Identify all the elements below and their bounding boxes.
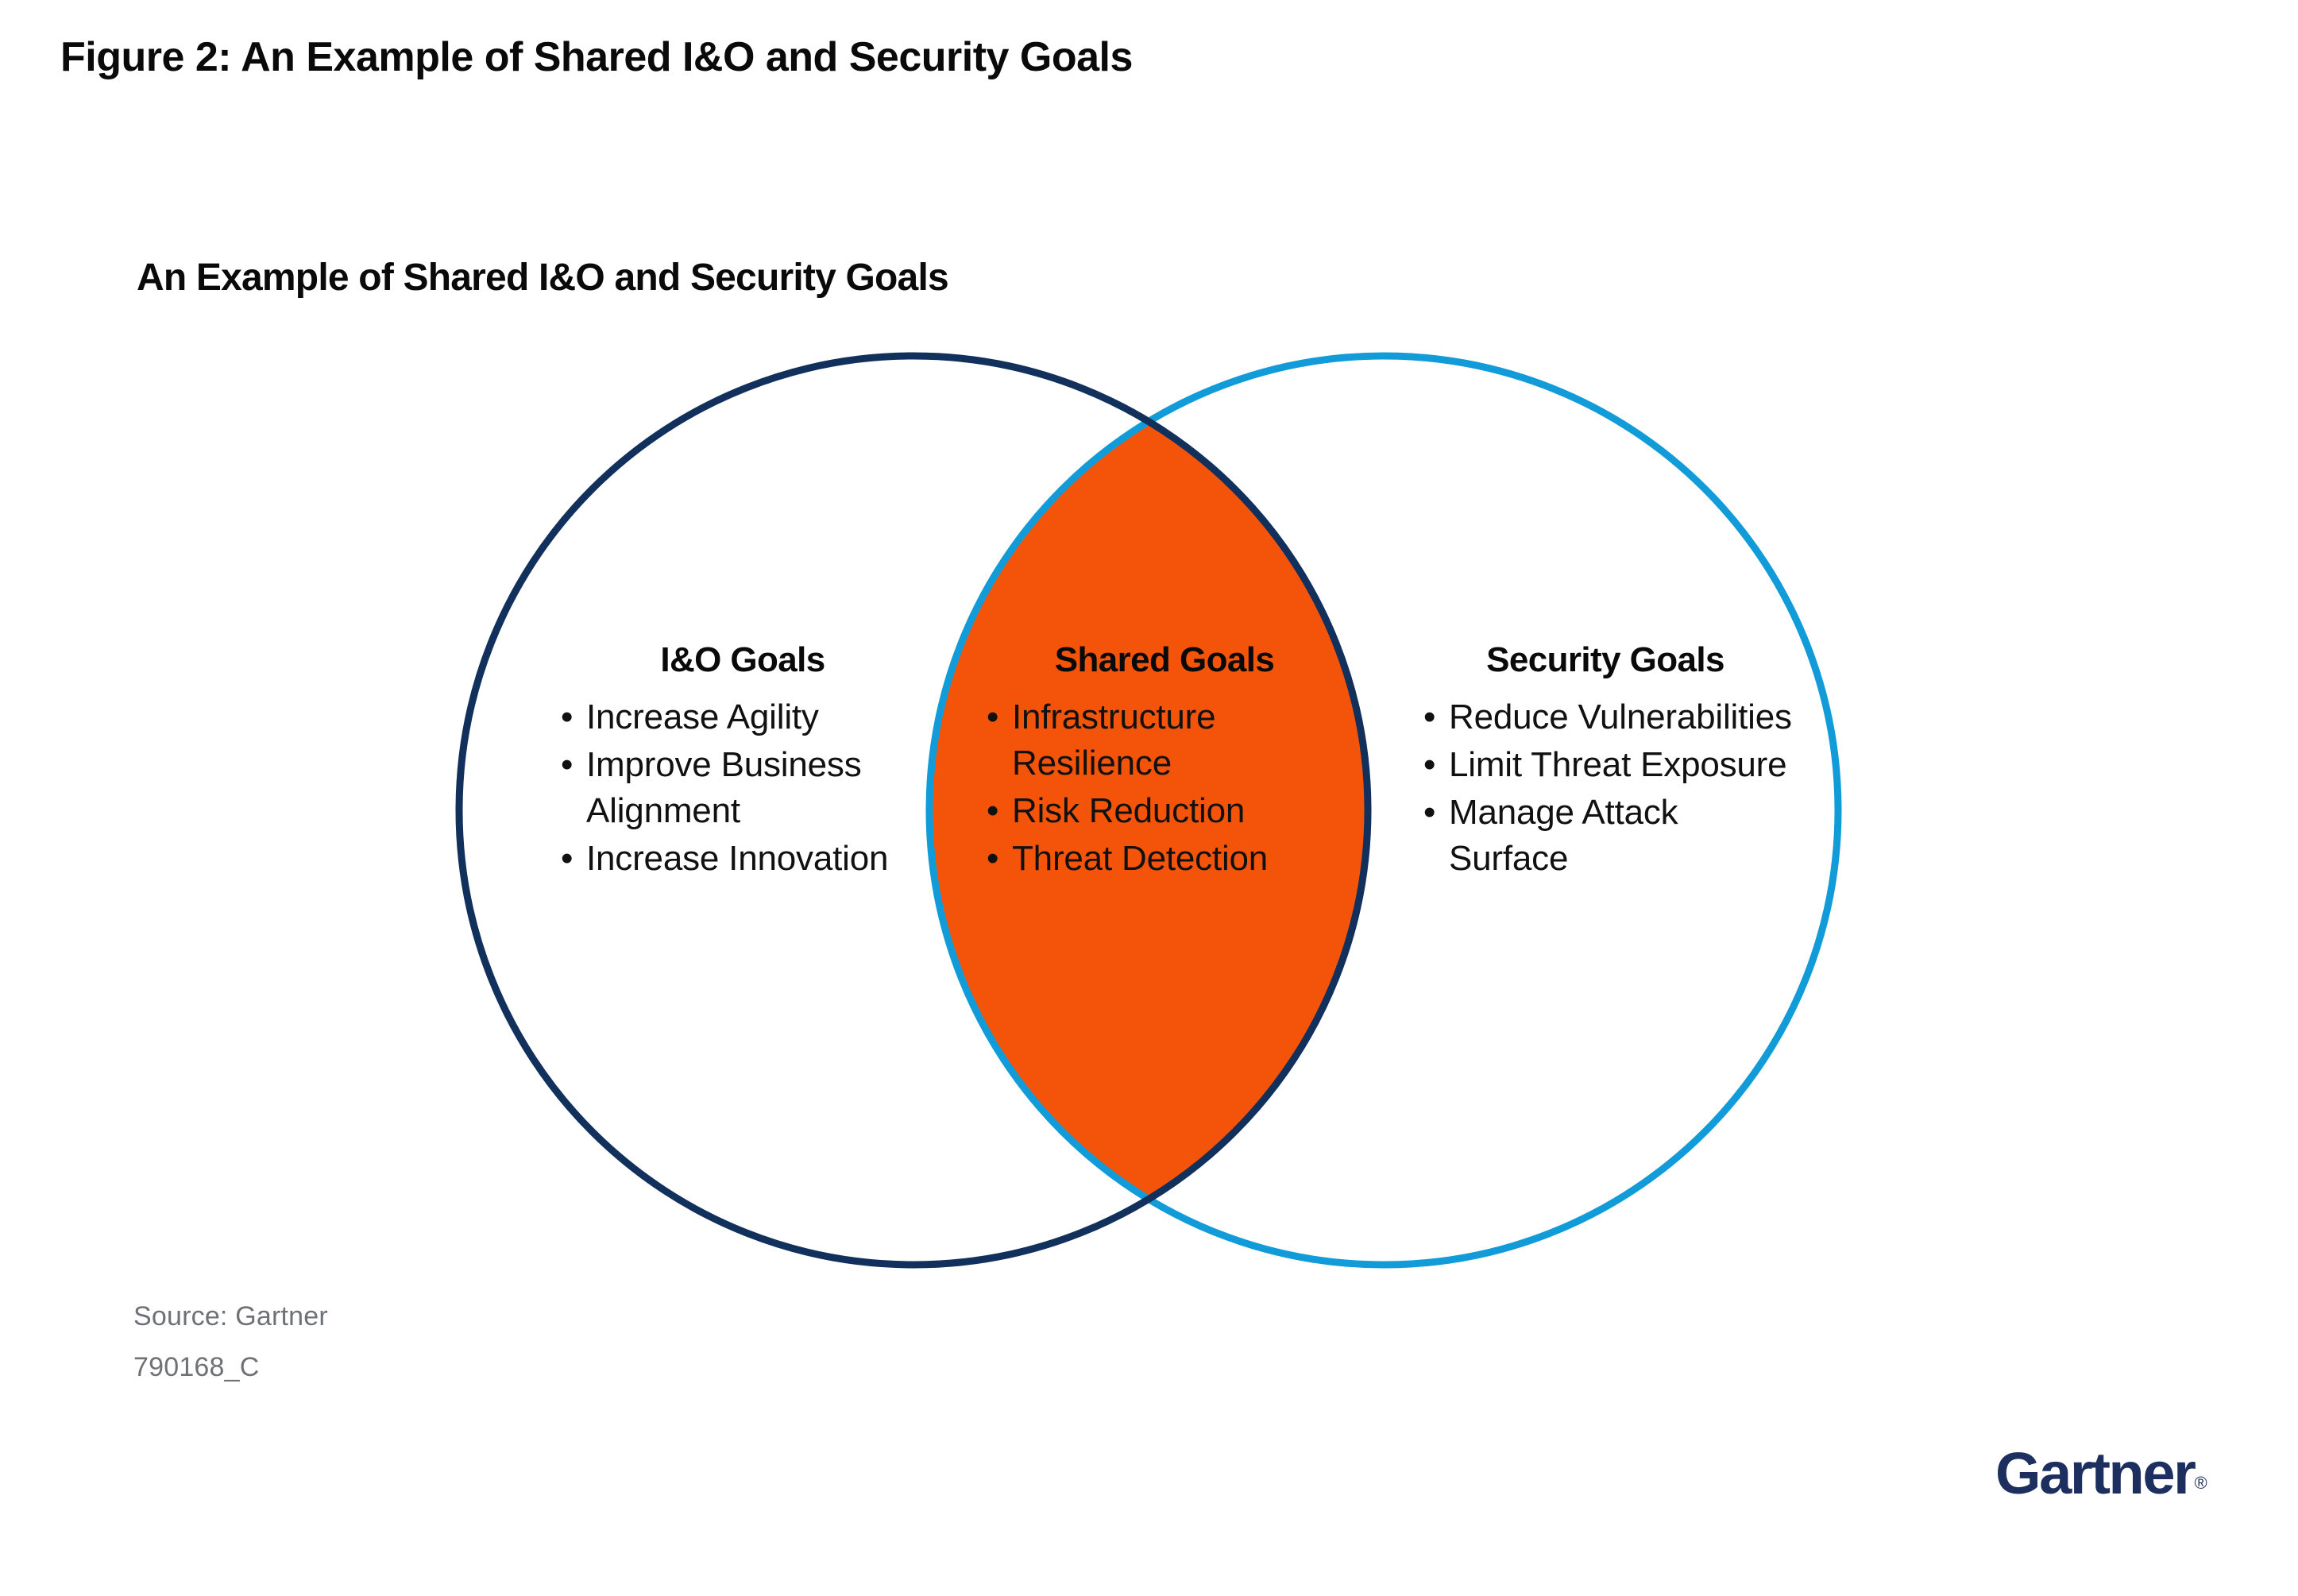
gartner-logo-text: Gartner	[1995, 1440, 2195, 1506]
io-goals-list: • Increase Agility • Improve Business Al…	[556, 694, 929, 882]
list-item-label: Threat Detection	[1012, 839, 1268, 878]
io-goals-group: I&O Goals • Increase Agility • Improve B…	[556, 640, 929, 883]
shared-goals-group: Shared Goals • Infrastructure Resilience…	[982, 640, 1347, 883]
list-item: • Manage Attack Surface	[1419, 790, 1792, 882]
figure-code: 790168_C	[133, 1352, 260, 1383]
list-item: • Reduce Vulnerabilities	[1419, 694, 1792, 740]
list-item-label: Reduce Vulnerabilities	[1449, 698, 1792, 736]
list-item: • Infrastructure Resilience	[982, 694, 1347, 786]
registered-trademark-icon: ®	[2195, 1473, 2207, 1493]
list-item: • Increase Innovation	[556, 836, 929, 882]
list-item: • Threat Detection	[982, 836, 1347, 882]
bullet-icon: •	[987, 788, 998, 834]
bullet-icon: •	[561, 694, 573, 740]
io-goals-title: I&O Goals	[556, 640, 929, 680]
bullet-icon: •	[561, 836, 573, 882]
security-goals-title: Security Goals	[1419, 640, 1792, 680]
bullet-icon: •	[561, 742, 573, 788]
bullet-icon: •	[1423, 742, 1435, 788]
list-item-label: Manage Attack Surface	[1449, 793, 1678, 878]
list-item: • Increase Agility	[556, 694, 929, 740]
gartner-logo: Gartner®	[1995, 1439, 2207, 1507]
list-item-label: Risk Reduction	[1012, 791, 1245, 830]
bullet-icon: •	[987, 694, 998, 740]
security-goals-list: • Reduce Vulnerabilities • Limit Threat …	[1419, 694, 1792, 882]
list-item: • Limit Threat Exposure	[1419, 742, 1792, 788]
security-goals-group: Security Goals • Reduce Vulnerabilities …	[1419, 640, 1792, 883]
bullet-icon: •	[1423, 694, 1435, 740]
shared-goals-list: • Infrastructure Resilience • Risk Reduc…	[982, 694, 1347, 882]
list-item: • Improve Business Alignment	[556, 742, 929, 834]
list-item-label: Limit Threat Exposure	[1449, 745, 1786, 784]
list-item-label: Increase Agility	[586, 698, 819, 736]
list-item-label: Increase Innovation	[586, 839, 888, 878]
list-item-label: Improve Business Alignment	[586, 745, 862, 830]
shared-goals-title: Shared Goals	[982, 640, 1347, 680]
bullet-icon: •	[987, 836, 998, 882]
list-item: • Risk Reduction	[982, 788, 1347, 834]
bullet-icon: •	[1423, 790, 1435, 836]
venn-diagram: I&O Goals • Increase Agility • Improve B…	[0, 0, 2298, 1596]
list-item-label: Infrastructure Resilience	[1012, 698, 1215, 783]
source-note: Source: Gartner	[133, 1301, 328, 1332]
